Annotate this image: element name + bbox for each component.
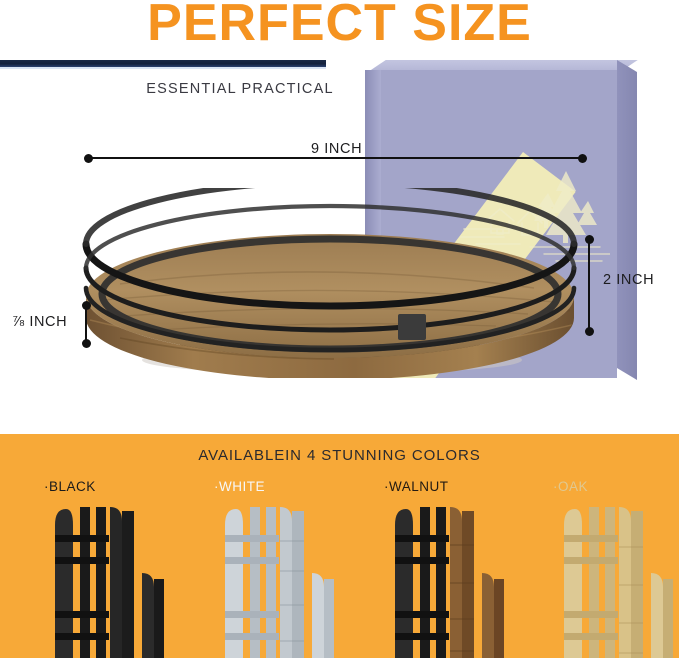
box-side-face [617,60,637,380]
height-endpoint-bottom-dot [585,327,594,336]
color-option-label: ·BLACK [44,479,96,494]
tray-edge-large [395,507,474,658]
title-divider-highlight [0,67,326,69]
color-option-black[interactable]: ·BLACK [0,479,170,658]
available-colors-section: AVAILABLEIN 4 STUNNING COLORS ·BLACK [0,434,679,658]
height-endpoint-top-dot [585,235,594,244]
thickness-endpoint-bottom-dot [82,339,91,348]
tray-edge-large [55,507,134,658]
size-section: PERFECT SIZE ESSENTIAL PRACTICAL [0,0,679,434]
title-divider [0,60,326,67]
color-swatch-image [198,501,340,658]
height-dimension-label: 2 INCH [603,272,654,288]
color-swatch-image [368,501,510,658]
color-option-label: ·OAK [553,479,588,494]
color-swatch-image [28,501,170,658]
color-option-oak[interactable]: ·OAK [509,479,679,658]
width-dimension-line [88,157,582,159]
width-endpoint-right-dot [578,154,587,163]
product-image-lazy-susan-tray [80,188,580,378]
color-option-label: ·WALNUT [384,479,449,494]
colors-section-title: AVAILABLEIN 4 STUNNING COLORS [0,447,679,464]
color-option-white[interactable]: ·WHITE [170,479,340,658]
thickness-dimension-label: ⅞ INCH [12,314,67,330]
width-endpoint-left-dot [84,154,93,163]
thickness-endpoint-top-dot [82,301,91,310]
tray-edge-small [142,573,164,658]
page-title: PERFECT SIZE [0,0,679,54]
height-dimension-line [588,239,590,331]
tray-edge-large [564,507,643,658]
tray-edge-small [312,573,334,658]
product-infographic: PERFECT SIZE ESSENTIAL PRACTICAL [0,0,679,658]
color-option-walnut[interactable]: ·WALNUT [340,479,510,658]
tray-edge-small [482,573,504,658]
color-swatch-image [537,501,679,658]
thickness-dimension-line [85,304,87,344]
width-dimension-label: 9 INCH [311,141,362,157]
tray-edge-large [225,507,304,658]
color-option-label: ·WHITE [214,479,265,494]
tray-edge-small [651,573,673,658]
